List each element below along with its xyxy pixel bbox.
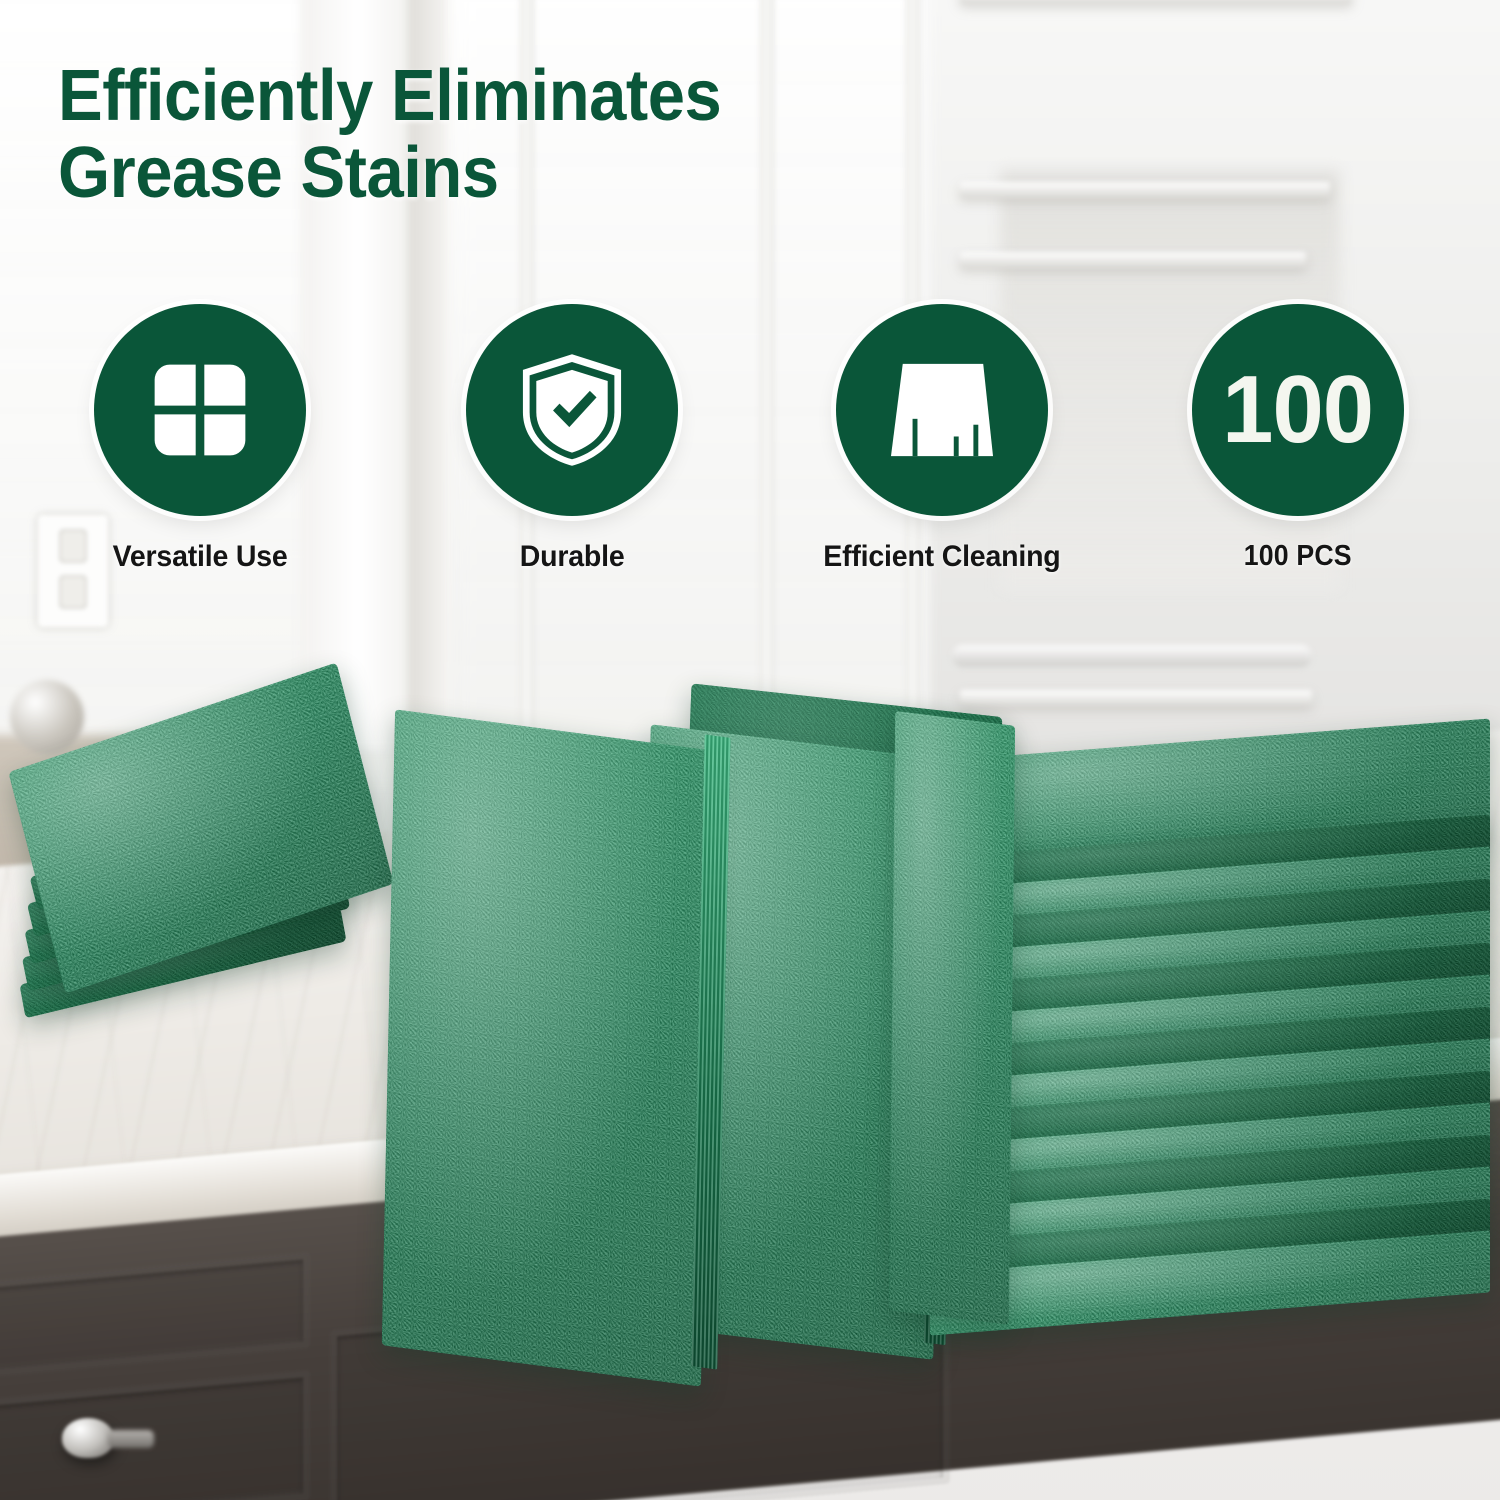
appliance-shelf-0	[960, 0, 1352, 4]
feature-label-quantity: 100 PCS	[1244, 540, 1352, 573]
decor-sphere	[10, 680, 84, 754]
appliance-handle	[952, 645, 1312, 667]
feature-durable[interactable]: Durable	[422, 304, 722, 574]
feature-efficient-cleaning[interactable]: Efficient Cleaning	[792, 304, 1092, 574]
page-title: Efficiently Eliminates Grease Stains	[58, 58, 721, 212]
feature-versatile-use[interactable]: Versatile Use	[50, 304, 350, 574]
pad-group-stack-right	[930, 740, 1500, 1330]
feature-badge-row: Versatile Use Durabl	[0, 300, 1500, 630]
scrub-pad-icon	[883, 358, 1001, 462]
badge-efficient-cleaning[interactable]	[836, 304, 1048, 516]
product-marketing-image: Efficiently Eliminates Grease Stains Ver…	[0, 0, 1500, 1500]
cabinet-knob-icon	[62, 1418, 114, 1458]
badge-quantity[interactable]: 100	[1192, 304, 1404, 516]
quantity-number: 100	[1223, 362, 1374, 458]
feature-label-durable: Durable	[520, 540, 625, 574]
feature-label-versatile-use: Versatile Use	[112, 540, 287, 574]
appliance-shelf-2	[960, 252, 1306, 268]
appliance-shelf-1	[960, 182, 1330, 198]
badge-durable[interactable]	[466, 304, 678, 516]
shield-check-icon	[516, 352, 628, 468]
feature-quantity[interactable]: 100 100 PCS	[1148, 304, 1448, 573]
badge-versatile-use[interactable]	[94, 304, 306, 516]
pad-center-front	[382, 709, 715, 1386]
feature-label-efficient-cleaning: Efficient Cleaning	[823, 540, 1060, 574]
cabinet-knob-stem	[108, 1430, 154, 1448]
four-squares-grid-icon	[146, 356, 254, 464]
pad-stack-front-left	[889, 711, 1015, 1325]
